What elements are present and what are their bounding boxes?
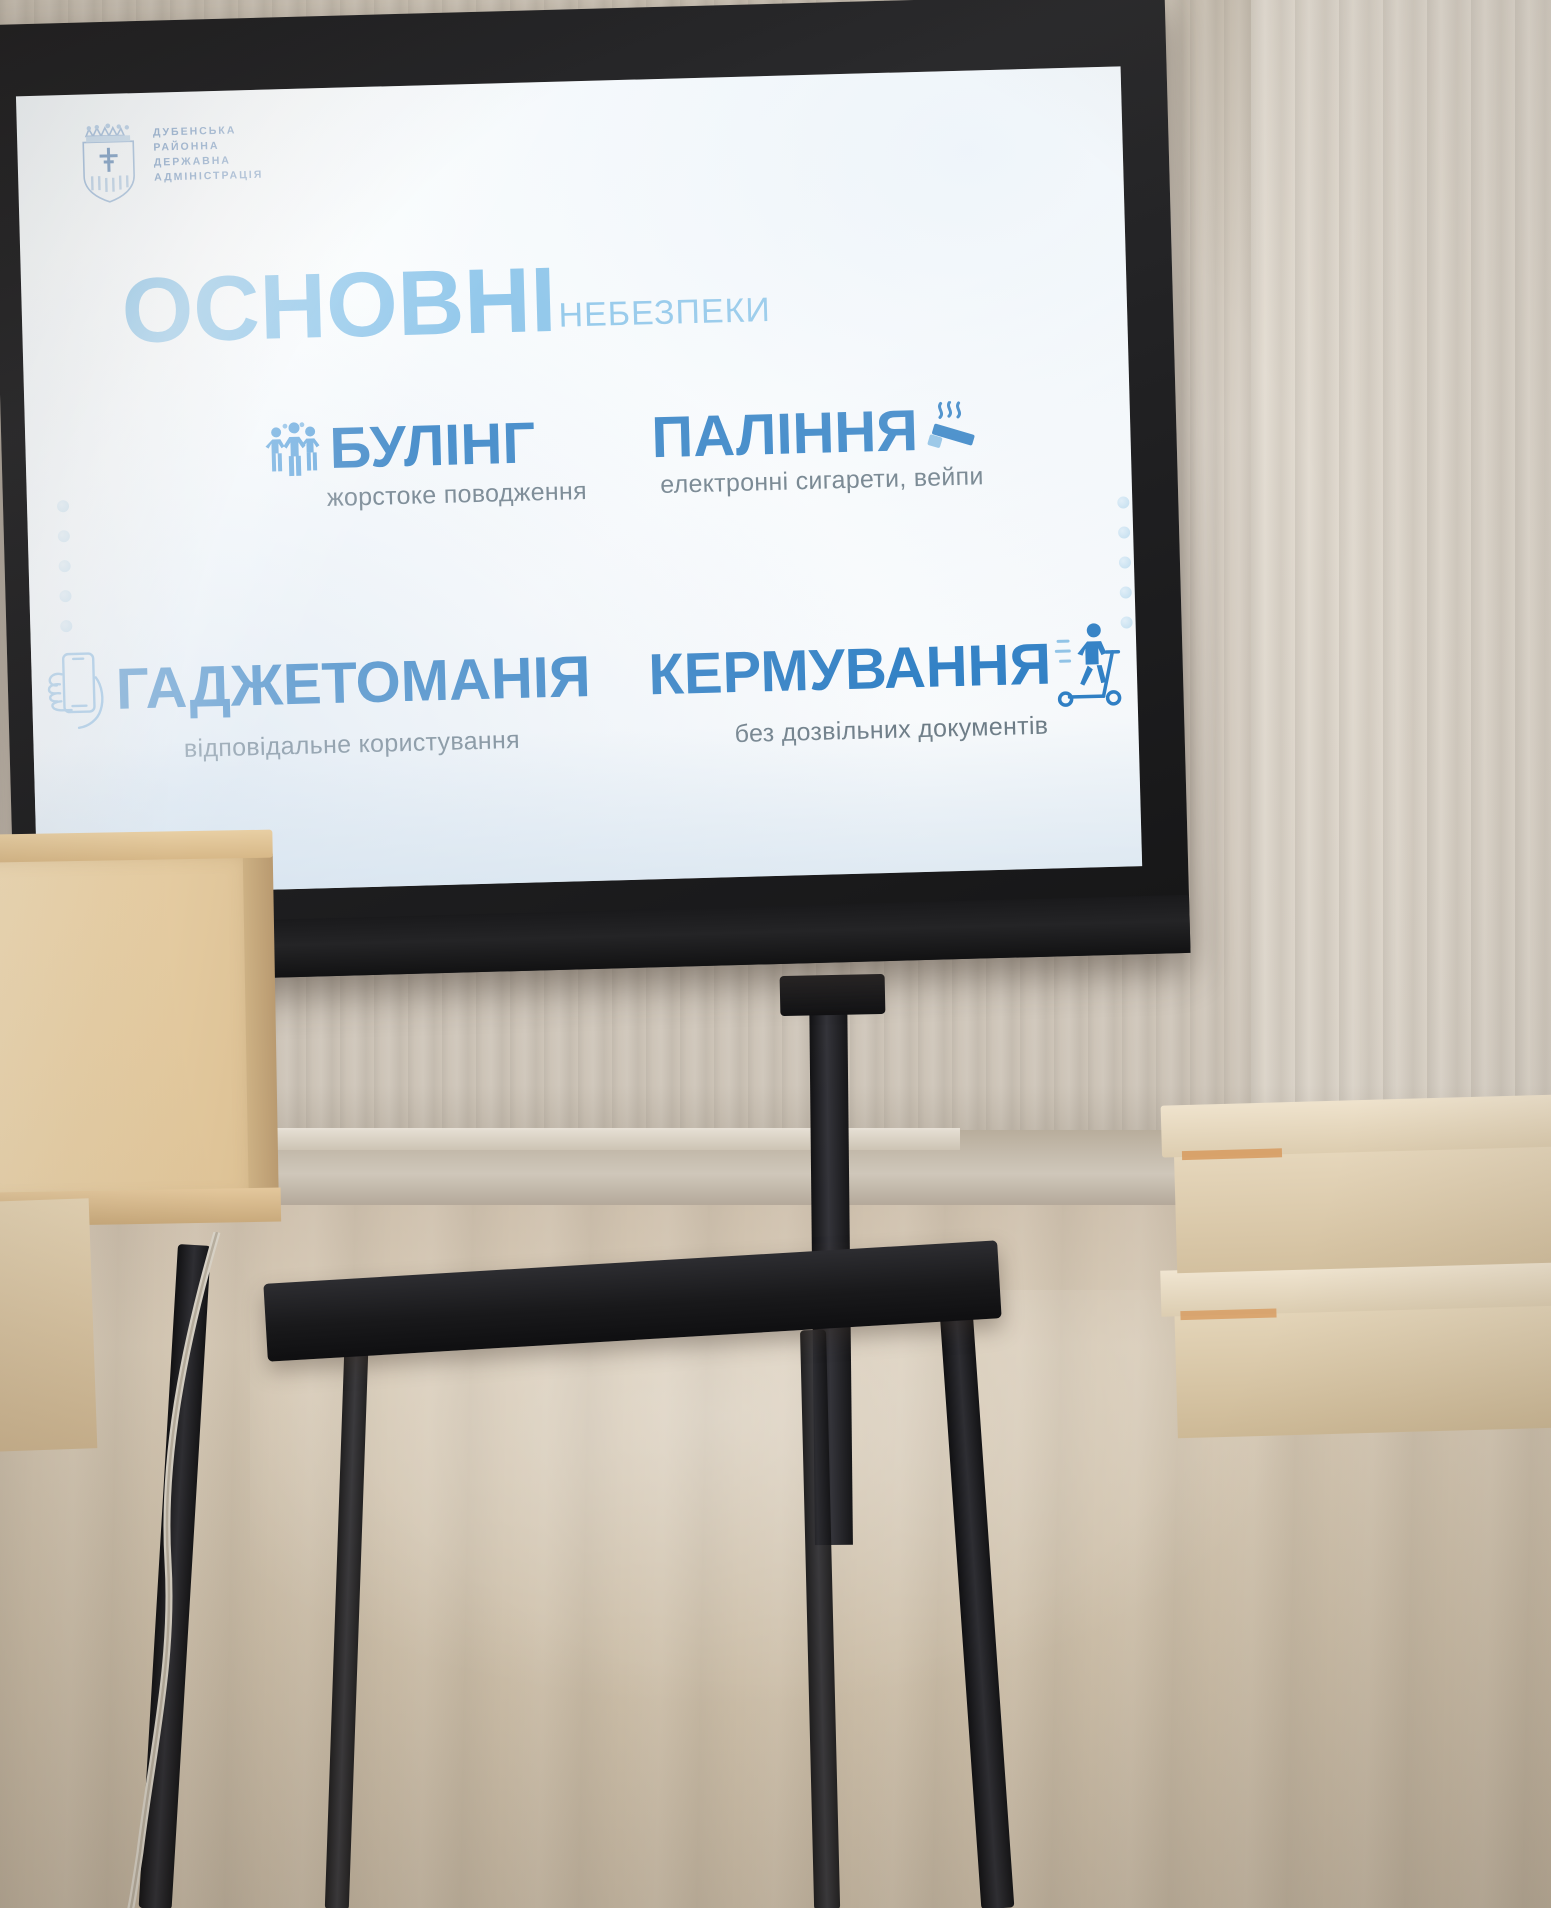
title-main-text: ОСНОВНІ — [121, 257, 558, 356]
sensor-dot — [1120, 616, 1132, 628]
scooter-rider-icon — [1054, 620, 1126, 708]
title-sub-text: НЕБЕЗПЕКИ — [558, 291, 771, 336]
card-title: БУЛІНГ — [329, 414, 536, 478]
sensor-dot — [1120, 586, 1132, 598]
card-head: ГАДЖЕТОМАНІЯ — [39, 634, 592, 735]
card-head: КЕРМУВАННЯ — [647, 620, 1126, 719]
sensor-dot — [1119, 556, 1131, 568]
wooden-lectern — [0, 829, 292, 1254]
card-head: ПАЛІННЯ — [651, 400, 985, 467]
lectern-base — [0, 1198, 97, 1452]
sensor-dot — [60, 620, 72, 632]
wall-ledge-strip — [260, 1128, 960, 1150]
coat-of-arms-icon — [77, 121, 141, 205]
logo-line-1: ДУБЕНСЬКА — [153, 124, 262, 139]
display-brand-plate — [576, 949, 630, 957]
cigarette-icon — [921, 400, 985, 460]
three-people-icon — [263, 418, 327, 482]
sensor-dot — [59, 560, 71, 572]
lectern-face — [0, 854, 263, 1204]
sensor-dot — [1117, 496, 1129, 508]
sensor-dot — [58, 530, 70, 542]
hazards-grid: БУЛІНГ жорстоке поводження — [25, 396, 1139, 768]
presentation-slide: ДУБЕНСЬКА РАЙОННА ДЕРЖАВНА АДМІНІСТРАЦІЯ… — [16, 66, 1142, 896]
logo-line-2: РАЙОННА — [153, 139, 262, 154]
card-title: ПАЛІННЯ — [651, 402, 919, 467]
display-screen[interactable]: ДУБЕНСЬКА РАЙОННА ДЕРЖАВНА АДМІНІСТРАЦІЯ… — [16, 66, 1142, 896]
sensor-dot — [1118, 526, 1130, 538]
photo-scene: ДУБЕНСЬКА РАЙОННА ДЕРЖАВНА АДМІНІСТРАЦІЯ… — [0, 0, 1551, 1908]
card-head: БУЛІНГ — [263, 411, 587, 482]
power-cable — [122, 1232, 242, 1908]
bench-step-upper — [1161, 1095, 1551, 1158]
bench-riser-lower — [1174, 1302, 1551, 1438]
lectern-top — [0, 830, 273, 863]
logo-line-4: АДМІНІСТРАЦІЯ — [154, 169, 263, 184]
hazards-row-top: БУЛІНГ жорстоке поводження — [25, 396, 1132, 521]
sensor-dot — [57, 500, 69, 512]
wooden-bench — [1161, 1094, 1551, 1425]
organisation-name: ДУБЕНСЬКА РАЙОННА ДЕРЖАВНА АДМІНІСТРАЦІЯ — [153, 118, 264, 184]
right-curtain — [1251, 0, 1551, 1210]
hazard-card-smoking: ПАЛІННЯ електронні сигарети, вейпи — [651, 400, 986, 504]
logo-line-3: ДЕРЖАВНА — [154, 154, 263, 169]
hazards-row-bottom: ГАДЖЕТОМАНІЯ відповідальне користування — [31, 619, 1139, 768]
hand-holding-phone-icon — [39, 647, 113, 735]
bench-riser-upper — [1174, 1143, 1551, 1274]
organisation-logo: ДУБЕНСЬКА РАЙОННА ДЕРЖАВНА АДМІНІСТРАЦІЯ — [77, 118, 264, 205]
hazard-card-riding: КЕРМУВАННЯ без дозвільних документів — [647, 620, 1127, 752]
panel-sensor-strip-right — [1117, 496, 1137, 628]
card-title: КЕРМУВАННЯ — [648, 636, 1052, 705]
card-subtitle: жорстоке поводження — [265, 477, 588, 515]
sensor-dot — [59, 590, 71, 602]
lectern-edge — [243, 854, 279, 1219]
card-title: ГАДЖЕТОМАНІЯ — [115, 648, 591, 719]
slide-title: ОСНОВНІ НЕБЕЗПЕКИ — [121, 251, 772, 356]
hazard-card-bullying: БУЛІНГ жорстоке поводження — [263, 411, 587, 515]
hazard-card-gadget: ГАДЖЕТОМАНІЯ відповідальне користування — [39, 634, 593, 768]
